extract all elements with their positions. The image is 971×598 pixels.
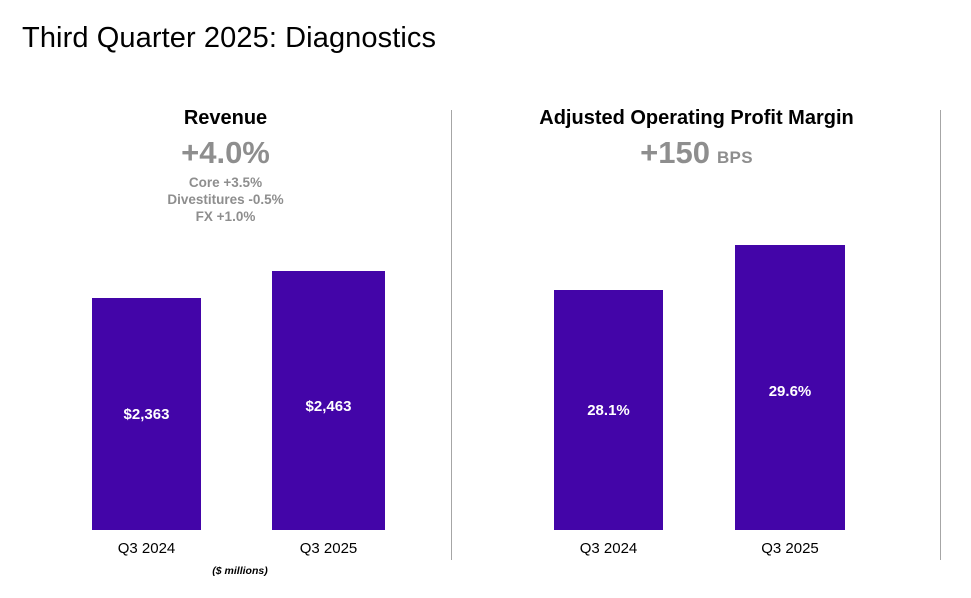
- category-label-revenue-q3-2025: Q3 2025: [272, 540, 385, 557]
- revenue-units-note: ($ millions): [160, 565, 320, 577]
- category-label-margin-q3-2024: Q3 2024: [554, 540, 663, 557]
- margin-plot-area: 28.1% 29.6% Q3 2024 Q3 2025: [452, 0, 941, 598]
- bar-revenue-q3-2024[interactable]: $2,363: [92, 298, 201, 530]
- bar-revenue-q3-2025[interactable]: $2,463: [272, 271, 385, 530]
- bar-value-revenue-q3-2025: $2,463: [272, 398, 385, 415]
- bar-value-margin-q3-2024: 28.1%: [554, 402, 663, 419]
- revenue-plot-area: $2,363 $2,463 Q3 2024 Q3 2025 ($ million…: [0, 0, 451, 598]
- category-label-revenue-q3-2024: Q3 2024: [92, 540, 201, 557]
- panel-adjusted-operating-profit-margin: Adjusted Operating Profit Margin +150BPS…: [452, 0, 941, 598]
- bar-value-revenue-q3-2024: $2,363: [92, 406, 201, 423]
- category-label-margin-q3-2025: Q3 2025: [735, 540, 845, 557]
- bar-margin-q3-2025[interactable]: 29.6%: [735, 245, 845, 530]
- panel-revenue: Revenue +4.0% Core +3.5% Divestitures -0…: [0, 0, 451, 598]
- bar-margin-q3-2024[interactable]: 28.1%: [554, 290, 663, 530]
- bar-value-margin-q3-2025: 29.6%: [735, 383, 845, 400]
- slide-canvas: Third Quarter 2025: Diagnostics Revenue …: [0, 0, 971, 598]
